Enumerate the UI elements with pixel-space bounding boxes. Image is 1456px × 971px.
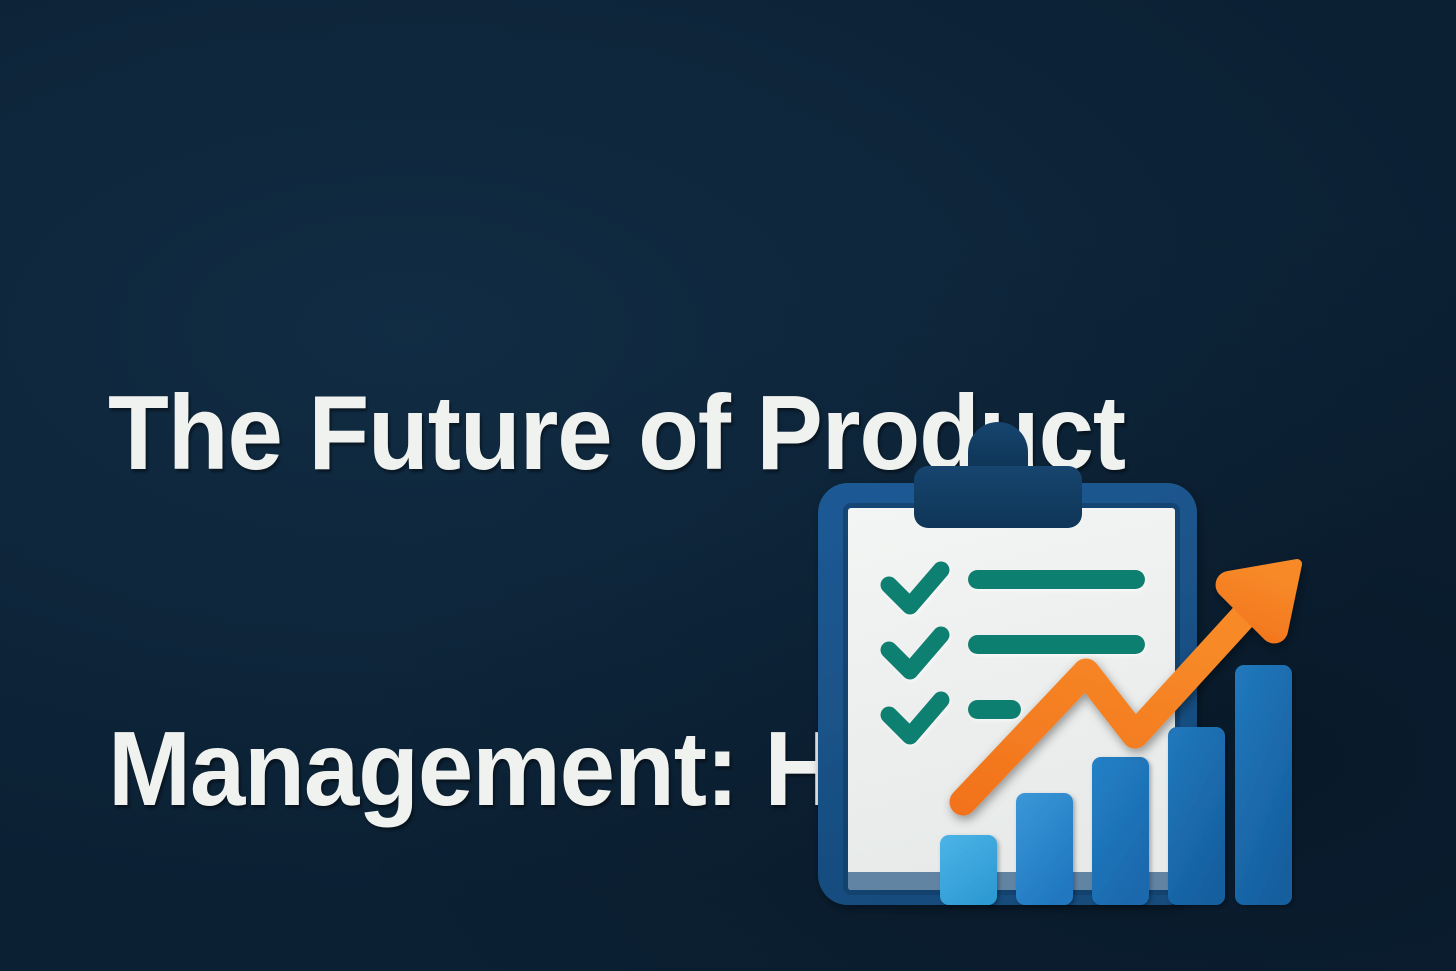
share-card: The Future of Product Management: Help S… bbox=[0, 0, 1456, 971]
page-title: The Future of Product Management: Help S… bbox=[108, 153, 1264, 971]
title-line-2: Management: Help bbox=[108, 713, 1264, 825]
title-line-1: The Future of Product bbox=[108, 377, 1264, 489]
